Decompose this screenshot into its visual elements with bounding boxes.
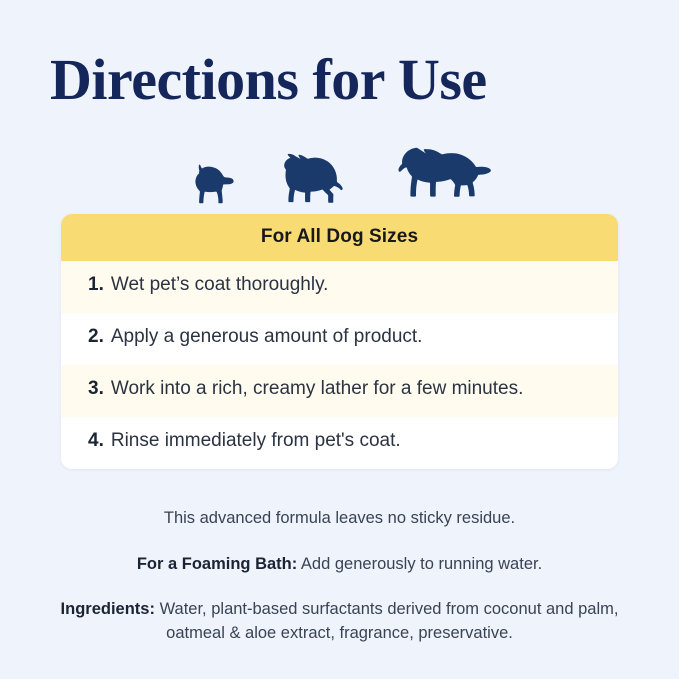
note-foaming-label: For a Foaming Bath: <box>137 555 297 573</box>
medium-dog-silhouette <box>277 148 353 204</box>
step-row: 1. Wet pet’s coat thoroughly. <box>61 261 618 313</box>
ingredients-text: Water, plant-based surfactants derived f… <box>160 600 619 642</box>
step-text: Work into a rich, creamy lather for a fe… <box>111 378 618 400</box>
ingredients-label: Ingredients: <box>61 600 155 618</box>
step-text: Apply a generous amount of product. <box>111 326 618 348</box>
note-foaming-bath: For a Foaming Bath: Add generously to ru… <box>0 553 679 577</box>
step-number: 1. <box>88 274 104 296</box>
step-number: 4. <box>88 430 104 452</box>
step-row: 2. Apply a generous amount of product. <box>61 313 618 365</box>
note-no-sticky-residue: This advanced formula leaves no sticky r… <box>0 507 679 531</box>
step-text: Wet pet’s coat thoroughly. <box>111 274 618 296</box>
directions-for-use-panel: Directions for Use For All Dog Sizes 1. … <box>0 0 679 679</box>
small-dog-silhouette <box>187 162 235 204</box>
step-text: Rinse immediately from pet's coat. <box>111 430 618 452</box>
dog-size-illustrations <box>61 132 618 204</box>
card-header-for-all-dog-sizes: For All Dog Sizes <box>61 214 618 261</box>
step-number: 2. <box>88 326 104 348</box>
step-number: 3. <box>88 378 104 400</box>
step-row: 4. Rinse immediately from pet's coat. <box>61 417 618 469</box>
large-dog-silhouette <box>395 142 493 204</box>
note-foaming-text: Add generously to running water. <box>301 555 542 573</box>
step-row: 3. Work into a rich, creamy lather for a… <box>61 365 618 417</box>
note-ingredients: Ingredients: Water, plant-based surfacta… <box>58 598 621 646</box>
page-title: Directions for Use <box>50 50 487 111</box>
directions-card: For All Dog Sizes 1. Wet pet’s coat thor… <box>61 214 618 469</box>
